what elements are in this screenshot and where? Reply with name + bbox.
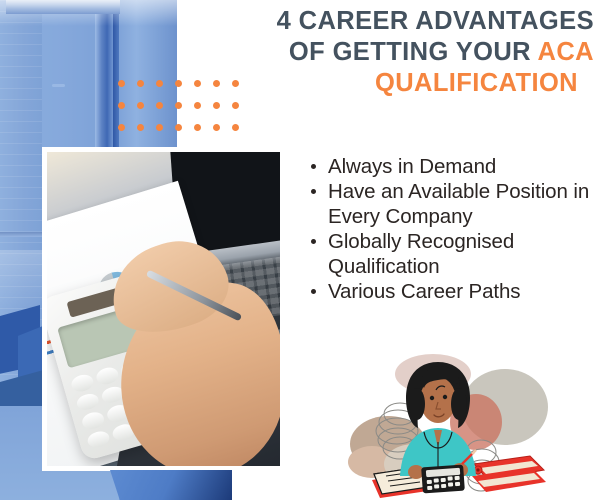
headline-line-2-plain: OF GETTING YOUR bbox=[289, 38, 538, 66]
list-item: Always in Demand bbox=[328, 154, 600, 179]
grid-dot bbox=[118, 102, 125, 109]
illustration-calculator bbox=[421, 465, 465, 494]
grid-dot bbox=[232, 102, 239, 109]
calculator-key bbox=[70, 372, 95, 393]
grid-dot bbox=[194, 124, 201, 131]
grid-dot bbox=[118, 80, 125, 87]
grid-dot bbox=[137, 124, 144, 131]
grid-dot bbox=[156, 80, 163, 87]
grid-dot bbox=[194, 102, 201, 109]
woman-studying-illustration bbox=[348, 352, 598, 500]
grid-dot bbox=[118, 124, 125, 131]
grid-dot bbox=[194, 80, 201, 87]
panel-door-handle bbox=[52, 84, 65, 87]
calculator-key bbox=[75, 391, 100, 412]
dot-grid-decoration bbox=[118, 80, 251, 146]
panel-glass-pane bbox=[0, 250, 42, 308]
blue-accent-shape bbox=[110, 470, 232, 500]
grid-dot bbox=[175, 80, 182, 87]
illustration-red-binders bbox=[472, 456, 546, 492]
calculator-key bbox=[86, 429, 111, 450]
illustration-head bbox=[406, 362, 470, 428]
headline-line-2: OF GETTING YOUR ACA bbox=[176, 37, 594, 68]
grid-dot bbox=[213, 124, 220, 131]
grid-dot bbox=[232, 80, 239, 87]
headline-line-1: 4 CAREER ADVANTAGES bbox=[176, 6, 594, 37]
calculator-key bbox=[80, 410, 105, 431]
list-item: Globally Recognised Qualification bbox=[328, 229, 600, 279]
calculator-finance-photo bbox=[42, 147, 285, 471]
benefits-list: Always in Demand Have an Available Posit… bbox=[306, 154, 600, 304]
grid-dot bbox=[156, 102, 163, 109]
list-item: Various Career Paths bbox=[328, 279, 600, 304]
grid-dot bbox=[175, 124, 182, 131]
grid-dot bbox=[137, 80, 144, 87]
illustration-svg bbox=[348, 352, 598, 500]
grid-dot bbox=[175, 102, 182, 109]
panel-top-highlight bbox=[0, 0, 177, 26]
grid-dot bbox=[213, 102, 220, 109]
list-item: Have an Available Position in Every Comp… bbox=[328, 179, 600, 229]
grid-dot bbox=[213, 80, 220, 87]
panel-wall-seam bbox=[0, 232, 42, 237]
grid-dot bbox=[137, 102, 144, 109]
photo-inner bbox=[47, 152, 280, 466]
headline-accent-aca: ACA bbox=[538, 38, 594, 66]
grid-dot bbox=[232, 124, 239, 131]
grid-dot bbox=[156, 124, 163, 131]
poster-canvas: 4 CAREER ADVANTAGES OF GETTING YOUR ACA … bbox=[0, 0, 600, 500]
calculator-key bbox=[95, 365, 120, 386]
